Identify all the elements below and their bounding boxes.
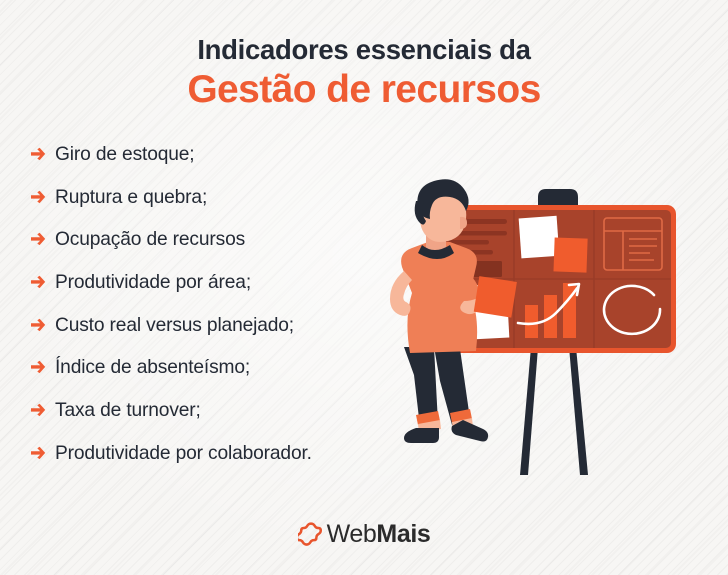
list-item: Produtividade por área; (30, 271, 412, 295)
list-item-label: Taxa de turnover; (55, 400, 201, 421)
list-item-label: Giro de estoque; (55, 144, 194, 165)
list-item-label: Índice de absenteísmo; (55, 357, 250, 378)
list-item: Produtividade por colaborador. (30, 442, 412, 466)
list-item: Ruptura e quebra; (30, 186, 412, 210)
page-title: Indicadores essenciais da Gestão de recu… (0, 34, 728, 114)
list-item-label: Produtividade por área; (55, 272, 251, 293)
board-clip (538, 189, 578, 207)
arrow-right-icon (30, 318, 46, 332)
logo-wordmark: WebMais (327, 522, 431, 547)
arrow-right-icon (30, 360, 46, 374)
easel-legs (520, 335, 588, 475)
infographic-poster: Indicadores essenciais da Gestão de recu… (0, 0, 728, 575)
list-item-label: Ocupação de recursos (55, 229, 245, 250)
title-line-2: Gestão de recursos (0, 67, 728, 114)
list-item-label: Ruptura e quebra; (55, 187, 207, 208)
logo-web-text: Web (327, 520, 377, 548)
indicator-list: Giro de estoque; Ruptura e quebra; Ocupa… (30, 143, 412, 466)
arrow-right-icon (30, 403, 46, 417)
title-line-1: Indicadores essenciais da (0, 34, 728, 66)
list-item: Taxa de turnover; (30, 399, 412, 423)
list-item: Custo real versus planejado; (30, 314, 412, 338)
webmais-quatrefoil-icon (298, 521, 324, 547)
arrow-right-icon (30, 147, 46, 161)
brand-logo: WebMais (0, 521, 728, 552)
planning-board-illustration (380, 175, 728, 510)
list-item-label: Custo real versus planejado; (55, 315, 294, 336)
arrow-right-icon (30, 446, 46, 460)
illustration-svg (380, 175, 728, 510)
arrow-right-icon (30, 232, 46, 246)
arrow-right-icon (30, 275, 46, 289)
arrow-right-icon (30, 190, 46, 204)
list-item: Índice de absenteísmo; (30, 356, 412, 380)
list-item-label: Produtividade por colaborador. (55, 443, 312, 464)
logo-mais-text: Mais (376, 520, 430, 548)
list-item: Giro de estoque; (30, 143, 412, 167)
list-item: Ocupação de recursos (30, 228, 412, 252)
